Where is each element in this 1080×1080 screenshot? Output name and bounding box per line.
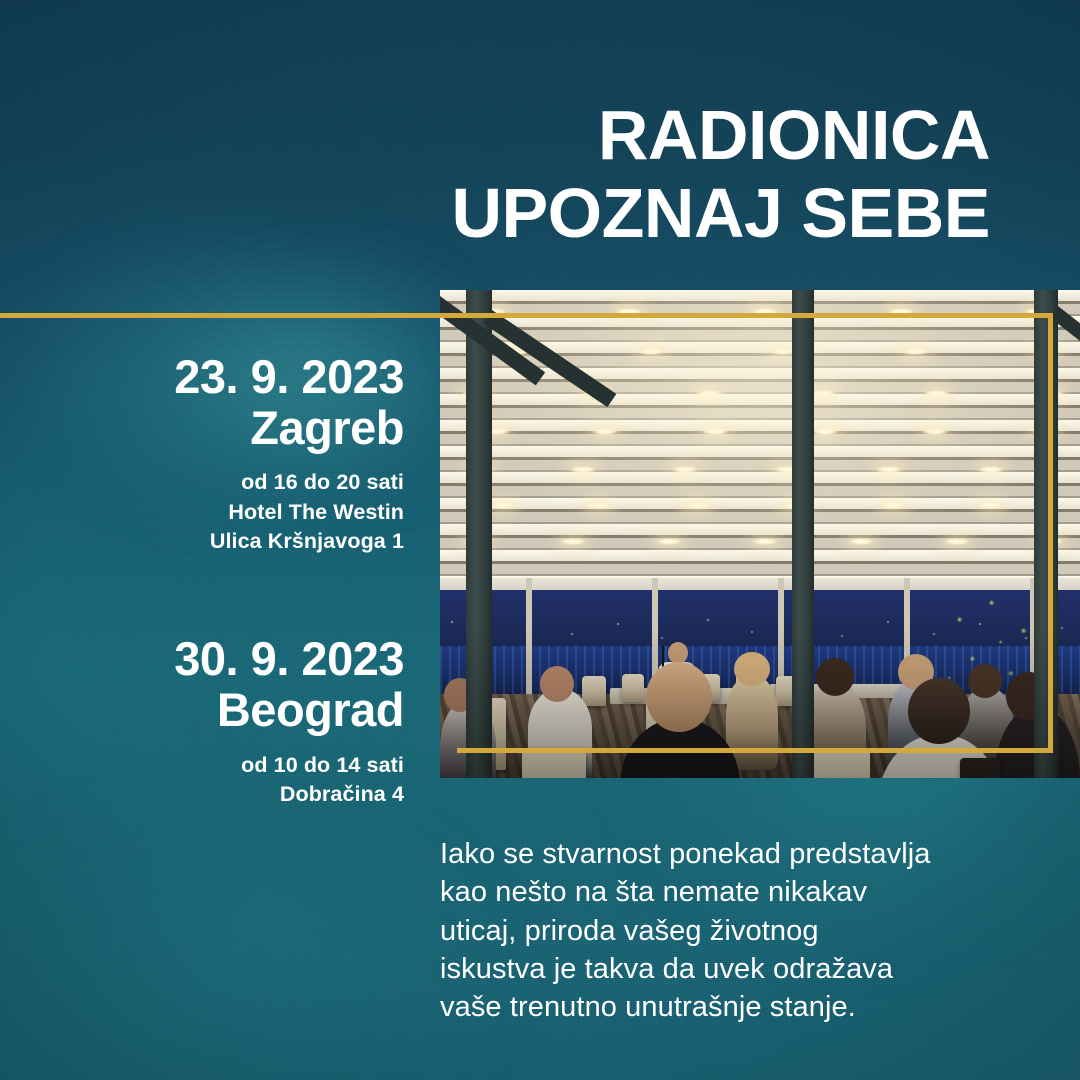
event-address: Ulica Kršnjavoga 1 (0, 527, 404, 556)
body-line-2: kao nešto na šta nemate nikakav (440, 873, 1040, 911)
poster-headline: RADIONICA UPOZNAJ SEBE (420, 96, 990, 253)
event-address: Dobračina 4 (0, 780, 404, 809)
gold-frame-right-line (1048, 313, 1053, 753)
event-date: 30. 9. 2023 (0, 634, 404, 684)
event-block-zagreb: 23. 9. 2023 Zagreb od 16 do 20 sati Hote… (0, 352, 404, 556)
photo-ceiling-glow (440, 290, 1080, 590)
poster-canvas: RADIONICA UPOZNAJ SEBE (0, 0, 1080, 1080)
event-city: Beograd (0, 684, 404, 737)
body-line-1: Iako se stvarnost ponekad predstavlja (440, 835, 1040, 873)
event-city: Zagreb (0, 402, 404, 455)
event-block-beograd: 30. 9. 2023 Beograd od 10 do 14 sati Dob… (0, 634, 404, 809)
gold-frame-bottom-line (457, 748, 1053, 753)
body-line-3: uticaj, priroda vašeg životnog (440, 912, 1040, 950)
event-time: od 10 do 14 sati (0, 751, 404, 780)
event-venue: Hotel The Westin (0, 498, 404, 527)
workshop-photo (440, 290, 1080, 778)
gold-frame-top-line (0, 313, 1053, 318)
events-spacer (0, 556, 404, 634)
events-info-column: 23. 9. 2023 Zagreb od 16 do 20 sati Hote… (0, 352, 404, 809)
headline-line-2: UPOZNAJ SEBE (420, 174, 990, 252)
body-line-4: iskustva je takva da uvek odražava (440, 950, 1040, 988)
body-line-5: vaše trenutno unutrašnje stanje. (440, 988, 1040, 1026)
event-date: 23. 9. 2023 (0, 352, 404, 402)
photo-bottom-shadow (440, 628, 1080, 778)
headline-line-1: RADIONICA (598, 96, 990, 174)
event-time: od 16 do 20 sati (0, 468, 404, 497)
body-paragraph: Iako se stvarnost ponekad predstavlja ka… (440, 835, 1040, 1026)
